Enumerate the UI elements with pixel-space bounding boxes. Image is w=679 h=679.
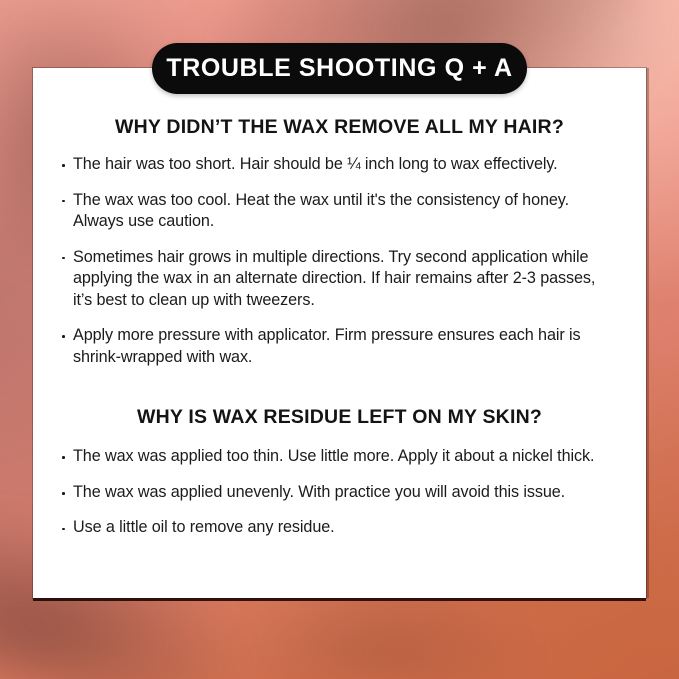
bullet-list-wax-removal: The hair was too short. Hair should be ¼… [61, 154, 618, 368]
title-banner-label: TROUBLE SHOOTING Q + A [166, 54, 512, 83]
title-banner-pill: TROUBLE SHOOTING Q + A [152, 43, 527, 94]
list-item: The wax was applied too thin. Use little… [61, 446, 618, 468]
list-item: Use a little oil to remove any residue. [61, 517, 618, 539]
section-wax-residue: WHY IS WAX RESIDUE LEFT ON MY SKIN? The … [61, 406, 618, 539]
card-content: WHY DIDN’T THE WAX REMOVE ALL MY HAIR? T… [33, 68, 646, 598]
list-item-text: The wax was too cool. Heat the wax until… [73, 191, 569, 231]
bullet-dot-icon [62, 492, 65, 495]
list-item: Sometimes hair grows in multiple directi… [61, 247, 618, 312]
list-item: The wax was applied unevenly. With pract… [61, 482, 618, 504]
list-item-text: Sometimes hair grows in multiple directi… [73, 248, 595, 309]
bullet-dot-icon [62, 335, 65, 338]
section-heading-wax-removal: WHY DIDN’T THE WAX REMOVE ALL MY HAIR? [61, 116, 618, 139]
bullet-dot-icon [62, 528, 65, 531]
bullet-dot-icon [62, 456, 65, 459]
bullet-dot-icon [62, 257, 65, 260]
list-item: Apply more pressure with applicator. Fir… [61, 325, 618, 368]
list-item-text: The wax was applied too thin. Use little… [73, 447, 594, 465]
list-item: The wax was too cool. Heat the wax until… [61, 190, 618, 233]
section-heading-wax-residue: WHY IS WAX RESIDUE LEFT ON MY SKIN? [61, 406, 618, 429]
page-root: WHY DIDN’T THE WAX REMOVE ALL MY HAIR? T… [0, 0, 679, 679]
bullet-dot-icon [62, 200, 65, 203]
list-item-text: Use a little oil to remove any residue. [73, 518, 335, 536]
info-card: WHY DIDN’T THE WAX REMOVE ALL MY HAIR? T… [33, 68, 646, 598]
list-item-text: Apply more pressure with applicator. Fir… [73, 326, 581, 366]
list-item-text: The wax was applied unevenly. With pract… [73, 483, 565, 501]
list-item-text: The hair was too short. Hair should be ¼… [73, 155, 558, 173]
bullet-list-wax-residue: The wax was applied too thin. Use little… [61, 446, 618, 539]
list-item: The hair was too short. Hair should be ¼… [61, 154, 618, 176]
bullet-dot-icon [62, 164, 65, 167]
section-wax-removal: WHY DIDN’T THE WAX REMOVE ALL MY HAIR? T… [61, 116, 618, 368]
